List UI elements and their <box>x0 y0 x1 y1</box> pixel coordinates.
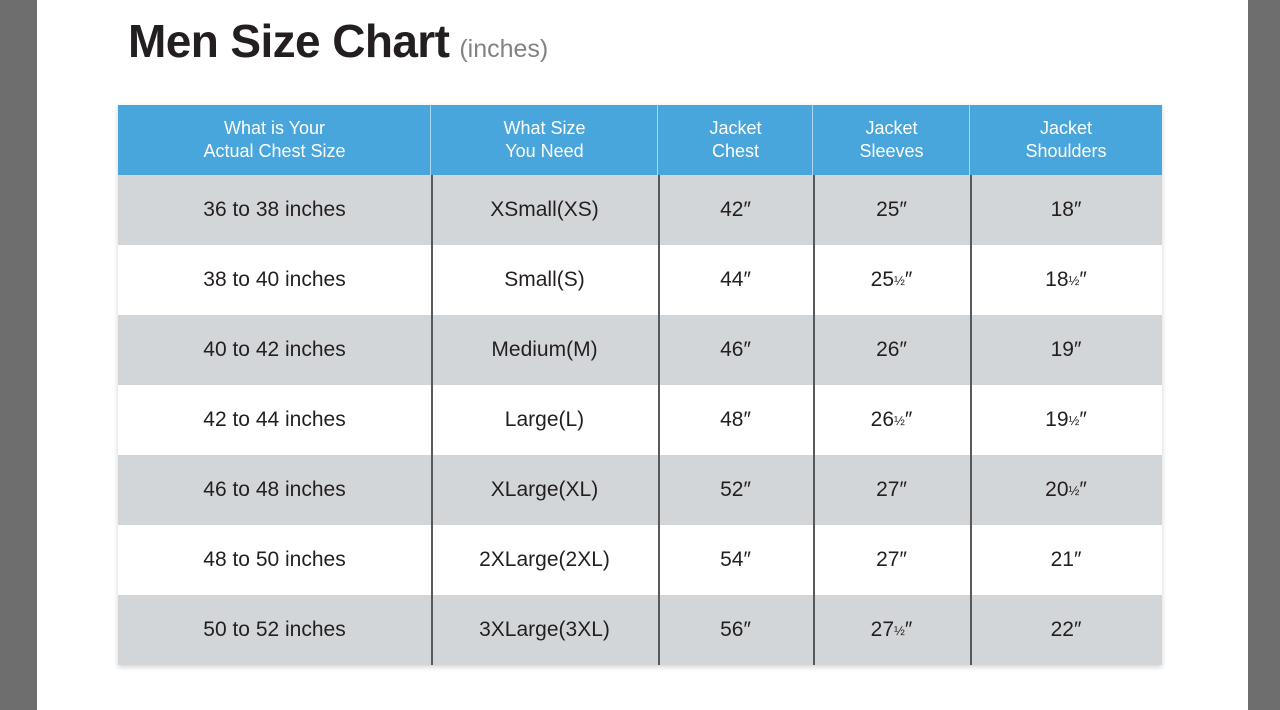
table-row: 36 to 38 inchesXSmall(XS)42″25″18″ <box>118 175 1162 245</box>
table-row: 46 to 48 inchesXLarge(XL)52″27″20½″ <box>118 455 1162 525</box>
table-body: 36 to 38 inchesXSmall(XS)42″25″18″38 to … <box>118 175 1162 665</box>
measure-whole: 18 <box>1045 268 1068 292</box>
cell-size-needed: Large(L) <box>431 385 658 455</box>
measure-fraction: ½ <box>894 273 905 288</box>
inch-mark: ″ <box>1074 338 1081 362</box>
measure-whole: 25 <box>871 268 894 292</box>
cell-jacket-shoulders: 20½″ <box>970 455 1162 525</box>
column-header-chest-range-line2: Actual Chest Size <box>203 140 345 163</box>
column-header-jacket-chest-line2: Chest <box>712 140 759 163</box>
inch-mark: ″ <box>905 408 912 432</box>
table-row: 48 to 50 inches2XLarge(2XL)54″27″21″ <box>118 525 1162 595</box>
cell-jacket-chest: 46″ <box>658 315 813 385</box>
measure-whole: 46 <box>720 338 743 362</box>
measure-whole: 27 <box>876 478 899 502</box>
measure-whole: 18 <box>1051 198 1074 222</box>
column-header-jacket-chest: Jacket Chest <box>658 105 813 175</box>
table-row: 38 to 40 inchesSmall(S)44″25½″18½″ <box>118 245 1162 315</box>
size-chart-page: Men Size Chart (inches) What is Your Act… <box>37 0 1248 710</box>
inch-mark: ″ <box>899 338 906 362</box>
cell-chest-range: 38 to 40 inches <box>118 245 431 315</box>
cell-size-needed: 3XLarge(3XL) <box>431 595 658 665</box>
cell-jacket-sleeves: 26½″ <box>813 385 970 455</box>
measure-fraction: ½ <box>894 623 905 638</box>
column-header-jacket-sleeves: Jacket Sleeves <box>813 105 970 175</box>
column-header-jacket-shoulders: Jacket Shoulders <box>970 105 1162 175</box>
cell-chest-range: 36 to 38 inches <box>118 175 431 245</box>
measure-whole: 27 <box>876 548 899 572</box>
column-header-jacket-chest-line1: Jacket <box>709 117 761 140</box>
cell-jacket-sleeves: 27″ <box>813 455 970 525</box>
inch-mark: ″ <box>743 198 750 222</box>
cell-size-needed: Small(S) <box>431 245 658 315</box>
cell-jacket-chest: 48″ <box>658 385 813 455</box>
inch-mark: ″ <box>743 478 750 502</box>
size-chart-table: What is Your Actual Chest Size What Size… <box>118 105 1162 665</box>
column-header-jacket-shoulders-line2: Shoulders <box>1025 140 1106 163</box>
cell-jacket-chest: 54″ <box>658 525 813 595</box>
cell-jacket-shoulders: 18″ <box>970 175 1162 245</box>
cell-jacket-chest: 44″ <box>658 245 813 315</box>
cell-jacket-sleeves: 27″ <box>813 525 970 595</box>
measure-fraction: ½ <box>1069 483 1080 498</box>
measure-whole: 19 <box>1045 408 1068 432</box>
measure-whole: 52 <box>720 478 743 502</box>
measure-whole: 56 <box>720 618 743 642</box>
measure-fraction: ½ <box>1069 413 1080 428</box>
cell-chest-range: 50 to 52 inches <box>118 595 431 665</box>
cell-jacket-chest: 56″ <box>658 595 813 665</box>
inch-mark: ″ <box>1074 548 1081 572</box>
table-row: 42 to 44 inchesLarge(L)48″26½″19½″ <box>118 385 1162 455</box>
measure-whole: 20 <box>1045 478 1068 502</box>
cell-jacket-shoulders: 18½″ <box>970 245 1162 315</box>
inch-mark: ″ <box>899 478 906 502</box>
cell-jacket-sleeves: 25″ <box>813 175 970 245</box>
page-title: Men Size Chart (inches) <box>128 18 548 64</box>
inch-mark: ″ <box>743 618 750 642</box>
cell-size-needed: 2XLarge(2XL) <box>431 525 658 595</box>
inch-mark: ″ <box>905 618 912 642</box>
inch-mark: ″ <box>905 268 912 292</box>
cell-size-needed: Medium(M) <box>431 315 658 385</box>
inch-mark: ″ <box>1074 618 1081 642</box>
cell-jacket-shoulders: 19½″ <box>970 385 1162 455</box>
cell-jacket-sleeves: 25½″ <box>813 245 970 315</box>
inch-mark: ″ <box>743 548 750 572</box>
measure-whole: 48 <box>720 408 743 432</box>
inch-mark: ″ <box>743 268 750 292</box>
measure-whole: 26 <box>871 408 894 432</box>
inch-mark: ″ <box>899 198 906 222</box>
inch-mark: ″ <box>1074 198 1081 222</box>
cell-chest-range: 42 to 44 inches <box>118 385 431 455</box>
column-header-chest-range-line1: What is Your <box>224 117 325 140</box>
table-row: 40 to 42 inchesMedium(M)46″26″19″ <box>118 315 1162 385</box>
measure-whole: 42 <box>720 198 743 222</box>
cell-jacket-chest: 52″ <box>658 455 813 525</box>
column-header-size-needed-line1: What Size <box>503 117 585 140</box>
measure-whole: 25 <box>876 198 899 222</box>
measure-fraction: ½ <box>1069 273 1080 288</box>
cell-chest-range: 48 to 50 inches <box>118 525 431 595</box>
left-letterbox-bar <box>0 0 37 710</box>
cell-jacket-shoulders: 21″ <box>970 525 1162 595</box>
cell-jacket-shoulders: 19″ <box>970 315 1162 385</box>
inch-mark: ″ <box>743 338 750 362</box>
column-header-jacket-sleeves-line2: Sleeves <box>859 140 923 163</box>
cell-chest-range: 40 to 42 inches <box>118 315 431 385</box>
column-header-jacket-shoulders-line1: Jacket <box>1040 117 1092 140</box>
inch-mark: ″ <box>1079 408 1086 432</box>
measure-fraction: ½ <box>894 413 905 428</box>
measure-whole: 54 <box>720 548 743 572</box>
measure-whole: 27 <box>871 618 894 642</box>
table-row: 50 to 52 inches3XLarge(3XL)56″27½″22″ <box>118 595 1162 665</box>
cell-jacket-shoulders: 22″ <box>970 595 1162 665</box>
measure-whole: 22 <box>1051 618 1074 642</box>
cell-size-needed: XSmall(XS) <box>431 175 658 245</box>
measure-whole: 26 <box>876 338 899 362</box>
column-header-size-needed-line2: You Need <box>505 140 583 163</box>
table-header-row: What is Your Actual Chest Size What Size… <box>118 105 1162 175</box>
cell-jacket-sleeves: 27½″ <box>813 595 970 665</box>
column-header-size-needed: What Size You Need <box>431 105 658 175</box>
cell-jacket-sleeves: 26″ <box>813 315 970 385</box>
measure-whole: 44 <box>720 268 743 292</box>
inch-mark: ″ <box>743 408 750 432</box>
inch-mark: ″ <box>1079 478 1086 502</box>
cell-size-needed: XLarge(XL) <box>431 455 658 525</box>
column-header-chest-range: What is Your Actual Chest Size <box>118 105 431 175</box>
measure-whole: 21 <box>1051 548 1074 572</box>
column-header-jacket-sleeves-line1: Jacket <box>865 117 917 140</box>
cell-jacket-chest: 42″ <box>658 175 813 245</box>
page-title-main: Men Size Chart <box>128 18 449 64</box>
inch-mark: ″ <box>899 548 906 572</box>
right-letterbox-bar <box>1248 0 1280 710</box>
measure-whole: 19 <box>1051 338 1074 362</box>
cell-chest-range: 46 to 48 inches <box>118 455 431 525</box>
inch-mark: ″ <box>1079 268 1086 292</box>
page-title-unit: (inches) <box>459 37 548 62</box>
